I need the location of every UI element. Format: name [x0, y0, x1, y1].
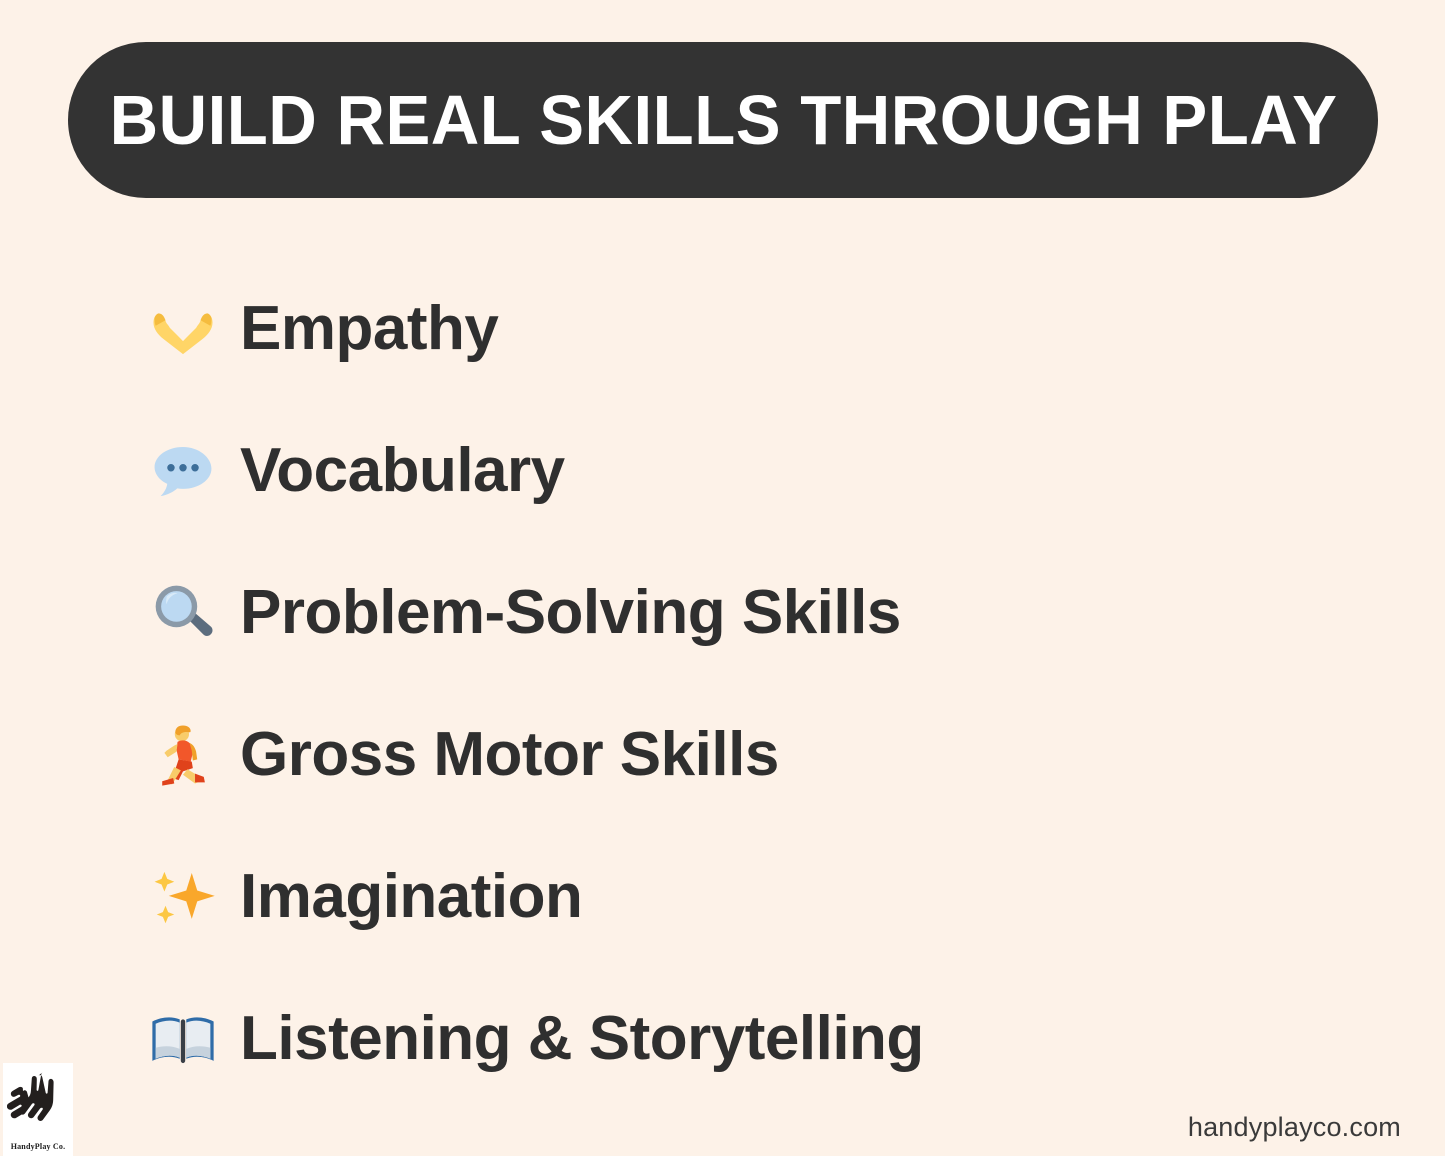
list-item: Gross Motor Skills: [148, 684, 1348, 826]
skill-label: Imagination: [240, 864, 582, 929]
running-person-icon: [148, 720, 240, 790]
speech-balloon-icon: [148, 436, 240, 506]
page-title: BUILD REAL SKILLS THROUGH PLAY: [109, 85, 1337, 155]
brand-logo[interactable]: HandyPlay Co.: [3, 1063, 73, 1156]
skill-label: Vocabulary: [240, 438, 565, 503]
list-item: Vocabulary: [148, 400, 1348, 542]
skill-label: Listening & Storytelling: [240, 1006, 924, 1071]
list-item: Problem-Solving Skills: [148, 542, 1348, 684]
heart-hands-icon: [148, 294, 240, 364]
title-banner: BUILD REAL SKILLS THROUGH PLAY: [68, 42, 1378, 198]
sparkles-icon: [148, 862, 240, 932]
magnifying-glass-icon: [148, 578, 240, 648]
skill-label: Empathy: [240, 296, 498, 361]
website-url[interactable]: handyplayco.com: [1188, 1112, 1401, 1143]
two-hands-logo: [7, 1067, 69, 1133]
list-item: Empathy: [148, 258, 1348, 400]
skill-label: Gross Motor Skills: [240, 722, 779, 787]
skills-list: Empathy Vocabulary: [148, 258, 1348, 1110]
list-item: Imagination: [148, 826, 1348, 968]
skill-label: Problem-Solving Skills: [240, 580, 901, 645]
logo-wordmark: HandyPlay Co.: [3, 1142, 73, 1151]
open-book-icon: [148, 1004, 240, 1074]
poster-canvas: BUILD REAL SKILLS THROUGH PLAY Empathy: [0, 0, 1445, 1156]
list-item: Listening & Storytelling: [148, 968, 1348, 1110]
